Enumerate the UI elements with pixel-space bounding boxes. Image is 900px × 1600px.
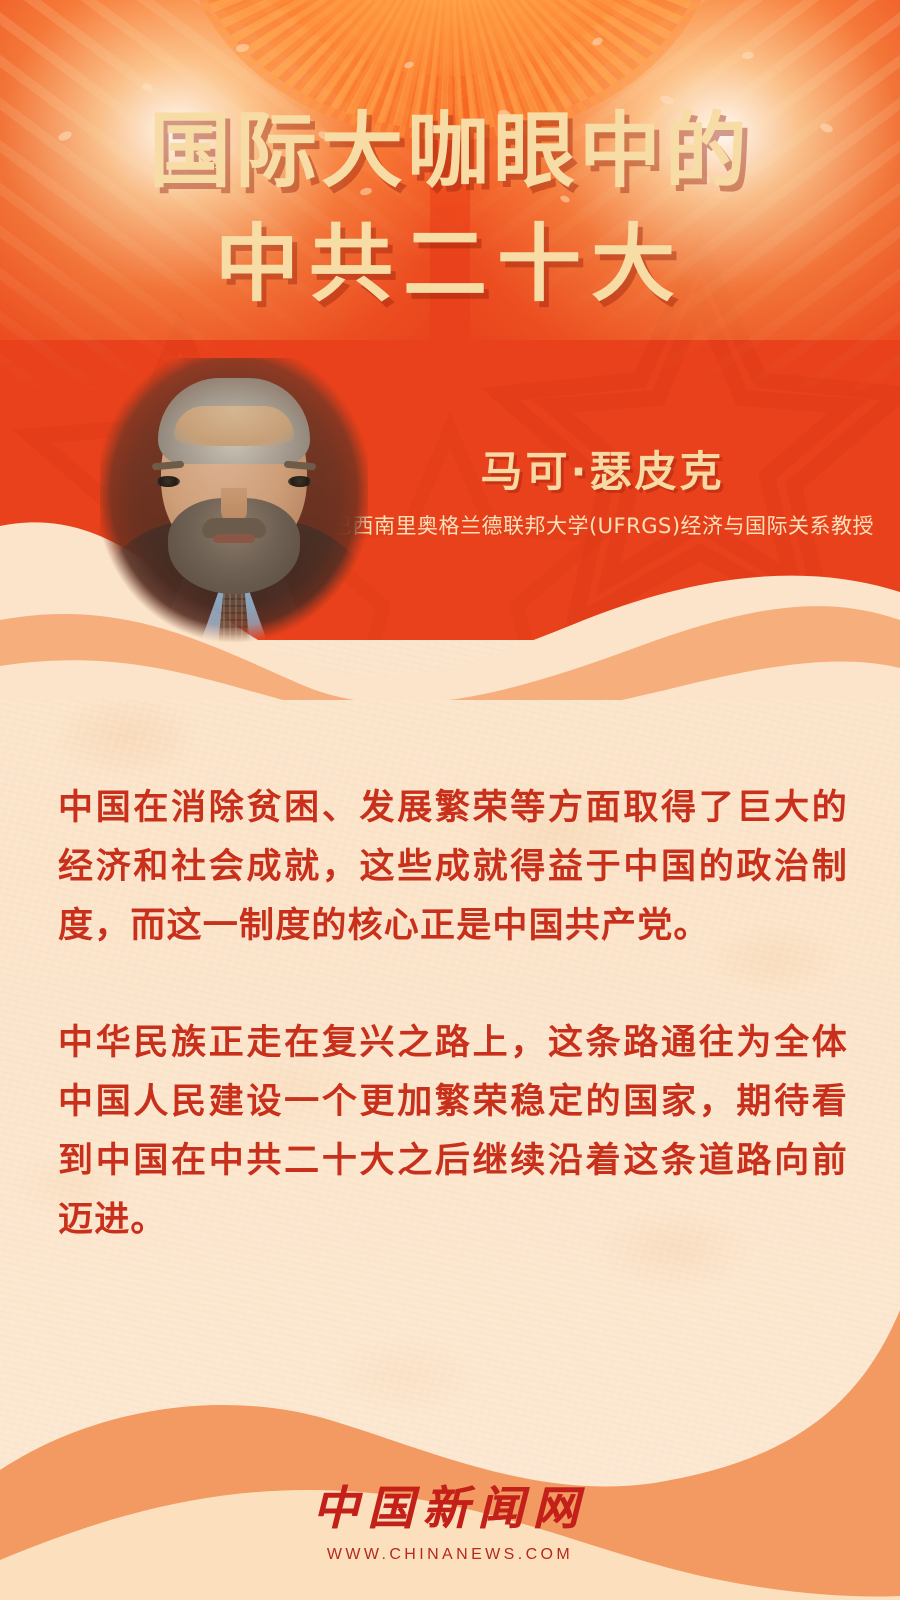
title-line-1: 国际大咖眼中的: [0, 96, 900, 208]
poster-root: 国际大咖眼中的 中共二十大: [0, 0, 900, 1600]
chinanews-url: WWW.CHINANEWS.COM: [0, 1546, 900, 1564]
poster-title: 国际大咖眼中的 中共二十大: [0, 96, 900, 320]
person-name: 马可·瑟皮克: [330, 438, 875, 499]
quote-block: 中国在消除贫困、发展繁荣等方面取得了巨大的经济和社会成就，这些成就得益于中国的政…: [58, 778, 848, 1249]
portrait-mask: [100, 358, 368, 650]
person-portrait: [100, 358, 368, 650]
chinanews-logo-text: 中国新闻网: [0, 1472, 900, 1538]
portrait-edge-glow: [100, 358, 368, 650]
quote-paragraph-2: 中华民族正走在复兴之路上，这条路通往为全体中国人民建设一个更加繁荣稳定的国家，期…: [58, 1013, 848, 1249]
person-info: 马可·瑟皮克 巴西南里奥格兰德联邦大学(UFRGS)经济与国际关系教授: [330, 438, 875, 541]
site-footer: 中国新闻网 WWW.CHINANEWS.COM: [0, 1472, 900, 1564]
title-line-2: 中共二十大: [0, 208, 900, 320]
person-affiliation: 巴西南里奥格兰德联邦大学(UFRGS)经济与国际关系教授: [330, 511, 875, 541]
quote-paragraph-1: 中国在消除贫困、发展繁荣等方面取得了巨大的经济和社会成就，这些成就得益于中国的政…: [58, 778, 848, 955]
